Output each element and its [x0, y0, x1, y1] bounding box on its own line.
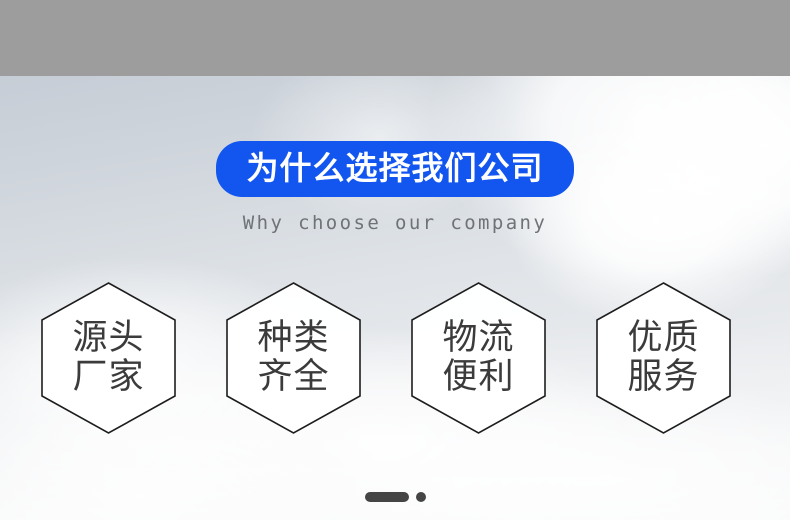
feature-label-2: 种类 齐全	[246, 319, 342, 397]
carousel-pagination[interactable]	[0, 492, 790, 502]
promo-banner-screen: 为什么选择我们公司 Why choose our company 源头 厂家 种…	[0, 0, 790, 520]
feature-label-4: 优质 服务	[616, 319, 712, 397]
pagination-dot[interactable]	[416, 492, 426, 502]
feature-hexagon-row: 源头 厂家 种类 齐全 物流 便利 优质 服务	[41, 282, 749, 434]
feature-hexagon-4[interactable]: 优质 服务	[596, 282, 731, 434]
page-title: 为什么选择我们公司	[216, 141, 573, 197]
headline-block: 为什么选择我们公司 Why choose our company	[0, 141, 790, 234]
pagination-dot-active[interactable]	[365, 492, 409, 502]
top-gray-bar	[0, 0, 790, 76]
page-subtitle: Why choose our company	[0, 212, 790, 234]
feature-label-1: 源头 厂家	[61, 319, 157, 397]
feature-hexagon-3[interactable]: 物流 便利	[411, 282, 546, 434]
feature-hexagon-1[interactable]: 源头 厂家	[41, 282, 176, 434]
feature-label-3: 物流 便利	[431, 319, 527, 397]
feature-hexagon-2[interactable]: 种类 齐全	[226, 282, 361, 434]
